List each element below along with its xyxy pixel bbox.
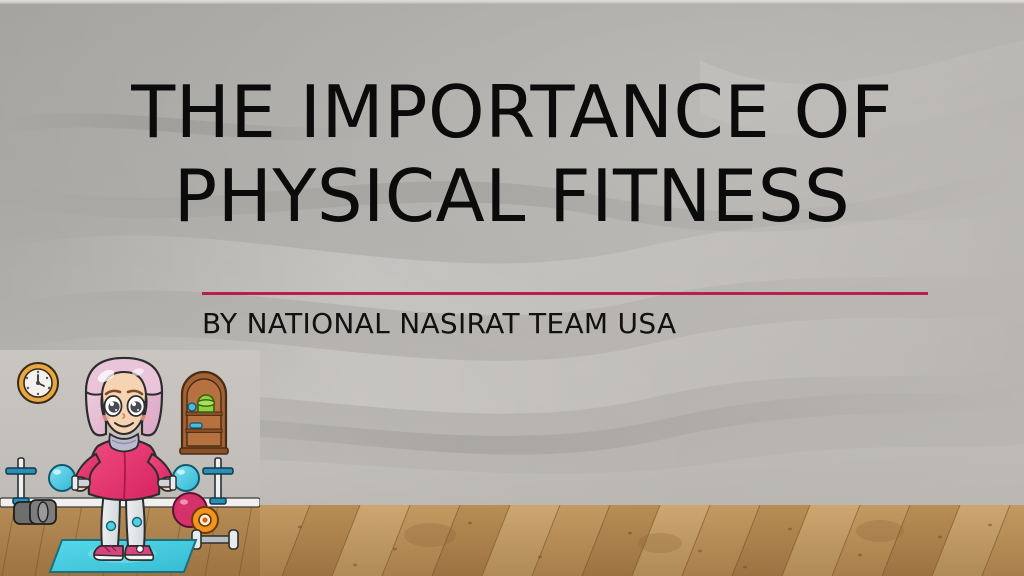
title-line-2: PHYSICAL FITNESS xyxy=(0,154,1024,238)
top-edge-strip xyxy=(0,0,1024,4)
orange-weight-plate-icon xyxy=(192,507,218,533)
wooden-cabinet-icon xyxy=(180,372,228,454)
slide-subtitle: BY NATIONAL NASIRAT TEAM USA xyxy=(202,306,962,342)
blue-box-icon xyxy=(190,423,202,428)
title-line-1: THE IMPORTANCE OF xyxy=(0,70,1024,154)
legging-detail-right-icon xyxy=(133,518,142,527)
sneaker-left-icon xyxy=(94,545,123,560)
wall-clock-icon xyxy=(18,363,58,403)
green-pot-icon xyxy=(198,395,215,412)
presentation-slide: THE IMPORTANCE OF PHYSICAL FITNESS BY NA… xyxy=(0,0,1024,576)
sneaker-right-icon xyxy=(125,546,153,560)
weight-plates-stack-icon xyxy=(14,500,56,524)
legging-detail-left-icon xyxy=(107,522,116,531)
blue-ball-icon xyxy=(188,403,196,411)
title-divider-line xyxy=(202,292,928,295)
page-title: THE IMPORTANCE OF PHYSICAL FITNESS xyxy=(0,70,1024,238)
gym-illustration xyxy=(0,350,260,576)
